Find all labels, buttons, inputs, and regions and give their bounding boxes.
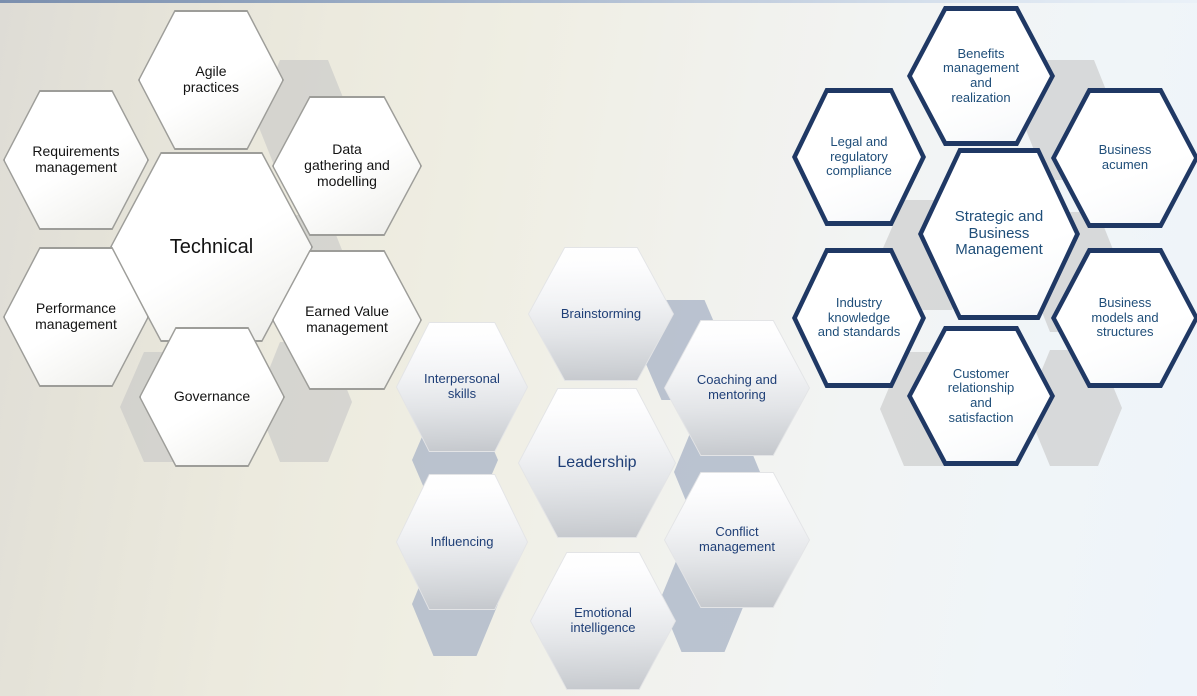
hexagon-face: Business models and structures bbox=[1056, 253, 1194, 383]
hexagon-label: Strategic and Business Management bbox=[946, 209, 1053, 259]
hexagon-label: Performance management bbox=[27, 301, 126, 332]
hexagon-label: Leadership bbox=[548, 454, 646, 472]
hexagon-label: Conflict management bbox=[690, 525, 783, 554]
hexagon-face: Strategic and Business Management bbox=[923, 153, 1075, 315]
hexagon-label: Requirements management bbox=[24, 144, 128, 175]
hexagon-label: Governance bbox=[165, 389, 258, 405]
hexagon-label: Brainstorming bbox=[552, 307, 649, 322]
hexagon-label: Data gathering and modelling bbox=[295, 142, 398, 189]
hexagon-label: Industry knowledge and standards bbox=[810, 296, 907, 340]
hexagon-label: Technical bbox=[158, 236, 265, 258]
top-divider-rule bbox=[0, 0, 1197, 3]
hexagon-label: Emotional intelligence bbox=[562, 606, 644, 635]
hexagon-label: Influencing bbox=[423, 535, 501, 550]
hexagon-label: Business acumen bbox=[1090, 143, 1159, 172]
hexagon-label: Agile practices bbox=[174, 64, 247, 95]
hexagon-label: Coaching and mentoring bbox=[688, 373, 785, 402]
hexagon-face: Industry knowledge and standards bbox=[797, 253, 921, 383]
hexagon-label: Earned Value management bbox=[296, 304, 397, 335]
hexagon-face: Legal and regulatory compliance bbox=[797, 93, 921, 221]
hexagon-label: Interpersonal skills bbox=[416, 372, 507, 401]
hexagon-label: Legal and regulatory compliance bbox=[819, 135, 900, 179]
hexagon-face: Business acumen bbox=[1056, 93, 1194, 223]
hexagon-label: Business models and structures bbox=[1083, 296, 1167, 340]
hexagon-face: Customer relationship and satisfaction bbox=[912, 331, 1050, 461]
hexagon-label: Benefits management and realization bbox=[935, 47, 1027, 105]
hexagon-label: Customer relationship and satisfaction bbox=[939, 367, 1022, 425]
hexagon-face: Benefits management and realization bbox=[912, 11, 1050, 141]
hexagon-diagram-canvas: TechnicalAgile practicesRequirements man… bbox=[0, 0, 1197, 696]
